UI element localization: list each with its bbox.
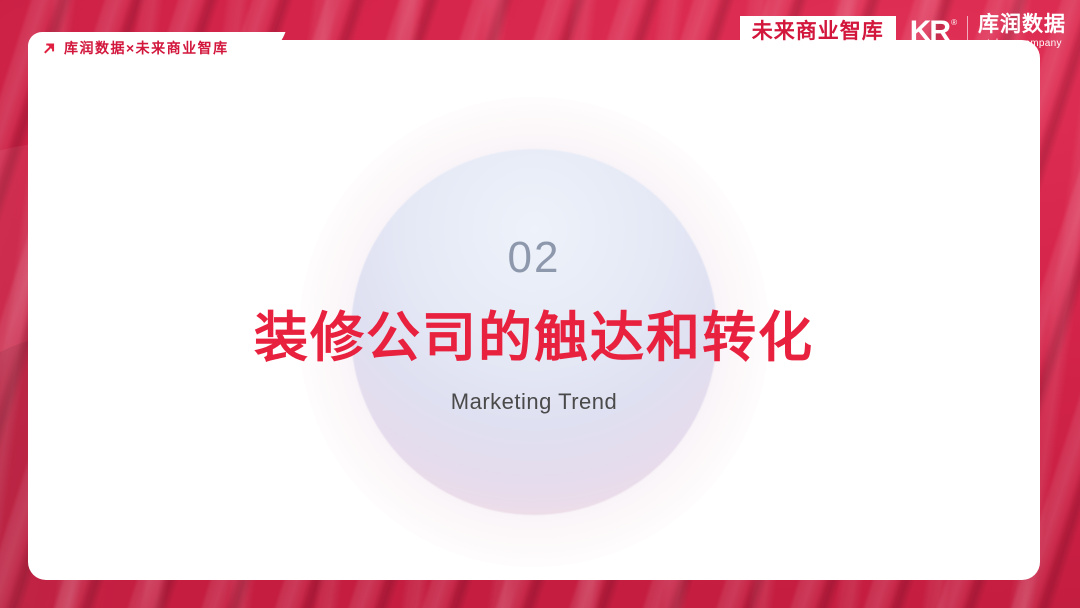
brand-divider (967, 16, 968, 48)
section-number: 02 (28, 236, 1040, 280)
section-title: 装修公司的触达和转化 (28, 310, 1040, 367)
kr-logo-mark: KR ® (910, 17, 957, 47)
slide: 未来商业智库 KR ® 库润数据 a toluna company 02 装修公… (0, 0, 1080, 608)
content-card: 02 装修公司的触达和转化 Marketing Trend (28, 40, 1040, 580)
section-heading-block: 02 装修公司的触达和转化 Marketing Trend (28, 236, 1040, 415)
kr-monogram: KR (910, 17, 949, 47)
arrow-up-right-icon (42, 41, 56, 55)
section-subtitle: Marketing Trend (28, 389, 1040, 415)
brand-company-block: 库润数据 a toluna company (978, 14, 1066, 50)
breadcrumb-tab[interactable]: 库润数据×未来商业智库 (28, 32, 263, 64)
registered-trademark-icon: ® (951, 19, 957, 27)
brand-lockup: 未来商业智库 KR ® 库润数据 a toluna company (740, 12, 1066, 52)
breadcrumb-tab-label: 库润数据×未来商业智库 (64, 38, 229, 58)
brand-company-name: 库润数据 (978, 14, 1066, 36)
brand-chip-label: 未来商业智库 (740, 16, 896, 48)
brand-tagline: a toluna company (978, 38, 1066, 50)
